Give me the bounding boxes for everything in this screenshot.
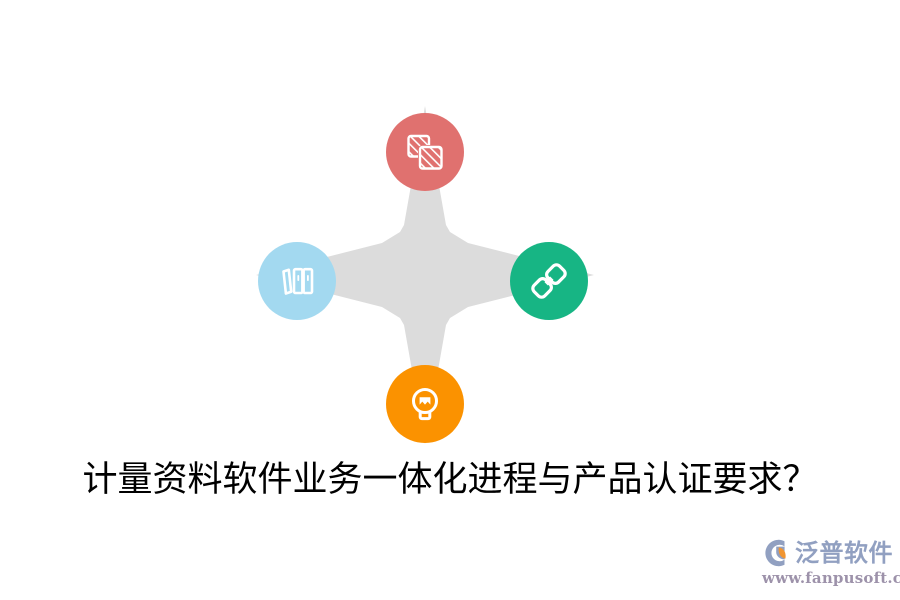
brand-row: 泛普软件 bbox=[762, 536, 894, 570]
brand-watermark: 泛普软件 www.fanpusoft.com bbox=[762, 536, 894, 594]
node-bottom-idea[interactable] bbox=[386, 365, 464, 443]
node-top-layers[interactable] bbox=[386, 113, 464, 191]
lightbulb-idea-icon bbox=[404, 383, 446, 425]
chain-link-icon bbox=[528, 260, 570, 302]
fanpu-swoosh-logo-icon bbox=[762, 538, 792, 568]
brand-url: www.fanpusoft.com bbox=[762, 569, 894, 587]
brand-name: 泛普软件 bbox=[795, 538, 893, 568]
page-title: 计量资料软件业务一体化进程与产品认证要求？ bbox=[0, 458, 900, 502]
page-canvas: 计量资料软件业务一体化进程与产品认证要求？ 泛普软件 www.fanpusoft… bbox=[0, 0, 900, 600]
star-hub-diagram bbox=[250, 100, 600, 450]
node-left-archive[interactable] bbox=[258, 242, 336, 320]
layers-copy-icon bbox=[404, 131, 446, 173]
books-archive-icon bbox=[276, 260, 318, 302]
node-right-link[interactable] bbox=[510, 242, 588, 320]
